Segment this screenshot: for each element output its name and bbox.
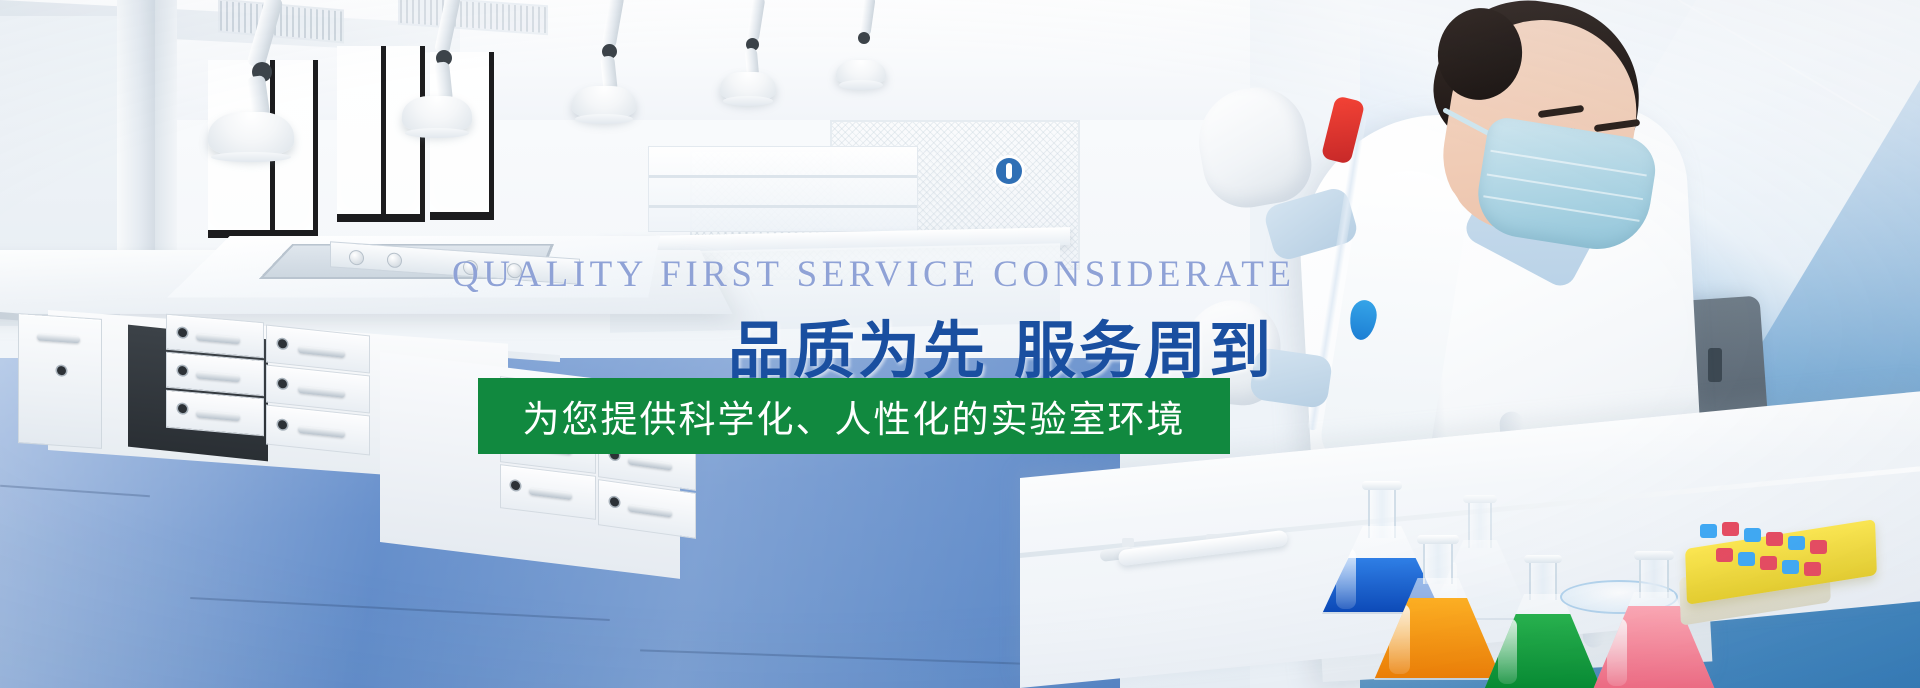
headline: 品质为先服务周到 — [728, 300, 1274, 390]
english-tagline: QUALITY FIRST SERVICE CONSIDERATE — [452, 253, 1295, 296]
subtitle-green-bar: 为您提供科学化、人性化的实验室环境 — [478, 378, 1230, 454]
headline-part-2: 服务周到 — [1014, 317, 1274, 386]
subtitle-text: 为您提供科学化、人性化的实验室环境 — [523, 389, 1186, 443]
banner-copy: QUALITY FIRST SERVICE CONSIDERATE 品质为先服务… — [0, 0, 1920, 688]
headline-part-1: 品质为先 — [728, 317, 988, 386]
lab-hero-banner: QUALITY FIRST SERVICE CONSIDERATE 品质为先服务… — [0, 0, 1920, 688]
